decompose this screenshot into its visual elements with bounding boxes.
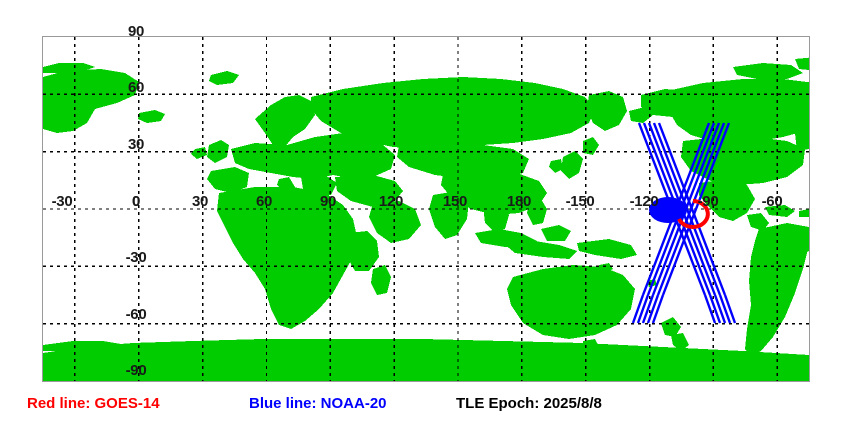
lon-tick-neg120: -120 bbox=[619, 194, 669, 209]
lon-tick-120: 120 bbox=[370, 194, 412, 209]
lon-tick-neg150: -150 bbox=[555, 194, 605, 209]
lat-tick-neg60: -60 bbox=[118, 307, 154, 322]
lon-tick-180: 180 bbox=[498, 194, 540, 209]
lon-tick-60: 60 bbox=[246, 194, 282, 209]
lon-tick-150: 150 bbox=[434, 194, 476, 209]
lat-tick-neg90: -90 bbox=[118, 363, 154, 378]
lat-tick-60: 60 bbox=[118, 80, 154, 95]
legend-red-line: Red line: GOES-14 bbox=[27, 396, 160, 411]
lon-tick-neg30: -30 bbox=[44, 194, 80, 209]
lon-tick-90: 90 bbox=[310, 194, 346, 209]
legend-tle-epoch: TLE Epoch: 2025/8/8 bbox=[456, 396, 602, 411]
lon-tick-0: 0 bbox=[118, 194, 154, 209]
lon-tick-neg60: -60 bbox=[750, 194, 794, 209]
satellite-ground-track-map: 90 60 30 0 -30 -60 -90 -30 0 30 60 90 12… bbox=[0, 0, 850, 425]
legend: Red line: GOES-14 Blue line: NOAA-20 TLE… bbox=[0, 396, 850, 422]
lat-tick-30: 30 bbox=[118, 137, 154, 152]
lon-tick-neg90: -90 bbox=[686, 194, 730, 209]
lat-tick-90: 90 bbox=[118, 24, 154, 39]
satellite-track-layer bbox=[43, 37, 809, 381]
lat-tick-neg30: -30 bbox=[118, 250, 154, 265]
map-plot-area bbox=[42, 36, 810, 382]
legend-blue-line: Blue line: NOAA-20 bbox=[249, 396, 387, 411]
lon-tick-30: 30 bbox=[182, 194, 218, 209]
